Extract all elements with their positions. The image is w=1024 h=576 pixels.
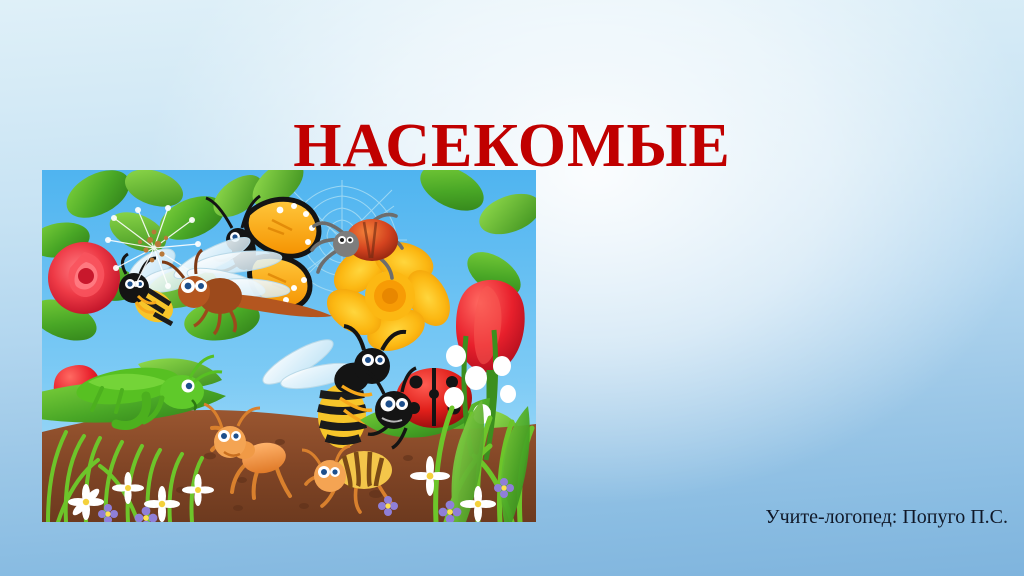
author-credit: Учите-логопед: Попуго П.С. [765, 504, 1008, 530]
insects-illustration-svg [42, 170, 536, 522]
rose-flower [48, 242, 120, 314]
slide-canvas: НАСЕКОМЫЕ [0, 0, 1024, 576]
insects-illustration [42, 170, 536, 522]
page-title: НАСЕКОМЫЕ [0, 114, 1024, 179]
